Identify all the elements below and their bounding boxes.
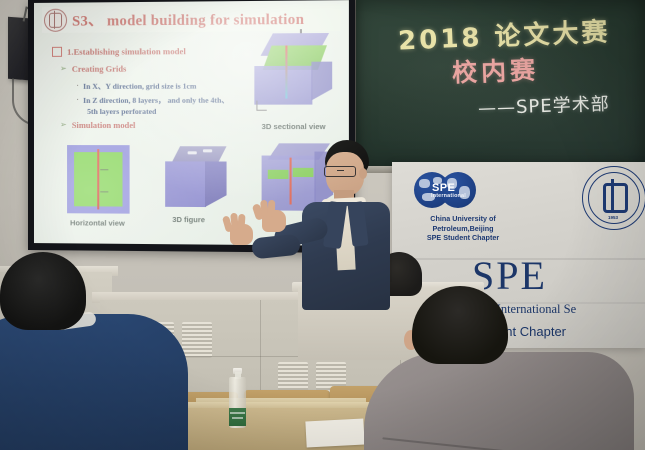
perforation-marker	[203, 149, 212, 152]
cube-side-face	[205, 161, 227, 207]
bottle-label	[229, 408, 246, 426]
water-bottle-icon	[229, 368, 246, 428]
slide-bullet-text: Simulation model	[72, 121, 136, 130]
slide-bullet-continuation: 5th layers perforated	[87, 107, 156, 116]
bottle-body	[229, 377, 246, 428]
audience-right-body	[364, 352, 634, 450]
slide-subhead-row: 1.Establishing simulation model	[52, 46, 186, 57]
dot-bullet-icon: ·	[76, 95, 79, 103]
photo-scene: 2018 论文大赛 校内赛 ——SPE学术部 SPE International…	[0, 0, 645, 450]
fracture-plane	[285, 46, 287, 99]
chalk-dust-texture	[352, 0, 645, 168]
banner-organization-text: China University of Petroleum,Beijing SP…	[408, 214, 518, 243]
paper-sheet-icon	[305, 419, 364, 448]
slide-bullet-text: In X、Y direction, grid size is 1cm	[83, 80, 196, 91]
presenter	[296, 140, 392, 310]
slide-figure-horizontal-view	[67, 145, 130, 214]
spe-international-globes-icon: SPE International	[414, 172, 500, 208]
slide-bullet-simulation-model: ➢ Simulation model	[60, 121, 135, 130]
figure-caption-3d-sectional: 3D sectional view	[262, 122, 326, 131]
cup-circular-logo-icon	[44, 9, 67, 32]
slide-bullet-xy-direction: · In X、Y direction, grid size is 1cm	[76, 80, 196, 91]
audience-right-head	[412, 286, 508, 364]
axis-indicator-icon	[256, 101, 266, 111]
seal-monogram	[598, 181, 628, 213]
figure-caption-3d-figure: 3D figure	[172, 215, 205, 224]
slide-subhead: 1.Establishing simulation model	[67, 46, 186, 57]
cube-front-face	[165, 161, 206, 207]
checkbox-icon	[52, 47, 62, 57]
figure-caption-horizontal-view: Horizontal view	[70, 218, 125, 227]
audience-member-right	[392, 286, 642, 450]
audience-left-head	[0, 252, 86, 330]
slide-figure-3d-cube	[165, 146, 233, 209]
audience-left-body	[0, 314, 188, 450]
seal-year-label: 1953	[608, 215, 618, 220]
perforated-layer-left	[268, 170, 289, 179]
model-front-face	[254, 66, 312, 105]
slide-bullet-text: In Z direction, 8 layers， and only the 4…	[83, 95, 229, 106]
presenter-glasses	[324, 166, 356, 177]
banner-org-line-3: SPE Student Chapter	[408, 233, 518, 243]
perforation-marker	[188, 151, 197, 154]
shirt-yoke-seam	[382, 437, 547, 450]
finger	[268, 200, 276, 217]
fracture-plane	[290, 158, 292, 205]
model-side-face	[311, 62, 332, 101]
slide-bullet-text: Creating Grids	[72, 65, 127, 74]
audience-member-left	[0, 252, 194, 450]
arrow-bullet-icon: ➢	[60, 121, 67, 130]
fracture-line	[97, 149, 99, 209]
presenter-ear	[359, 168, 367, 179]
slide-figure-3d-sectional	[250, 29, 339, 119]
china-university-of-petroleum-seal-icon: 1953	[582, 166, 645, 230]
finger	[237, 214, 245, 230]
dot-bullet-icon: ·	[76, 81, 79, 89]
banner-logo-subword: International	[431, 193, 466, 199]
slide-bullet-z-direction: · In Z direction, 8 layers， and only the…	[76, 95, 229, 106]
banner-org-line-2: Petroleum,Beijing	[408, 224, 518, 234]
slide-bullet-creating-grids: ➢ Creating Grids	[60, 65, 126, 74]
slide-title: S3、 model building for simulation	[72, 8, 304, 31]
arrow-bullet-icon: ➢	[60, 65, 67, 74]
chalkboard	[352, 0, 645, 168]
banner-org-line-1: China University of	[408, 214, 518, 224]
